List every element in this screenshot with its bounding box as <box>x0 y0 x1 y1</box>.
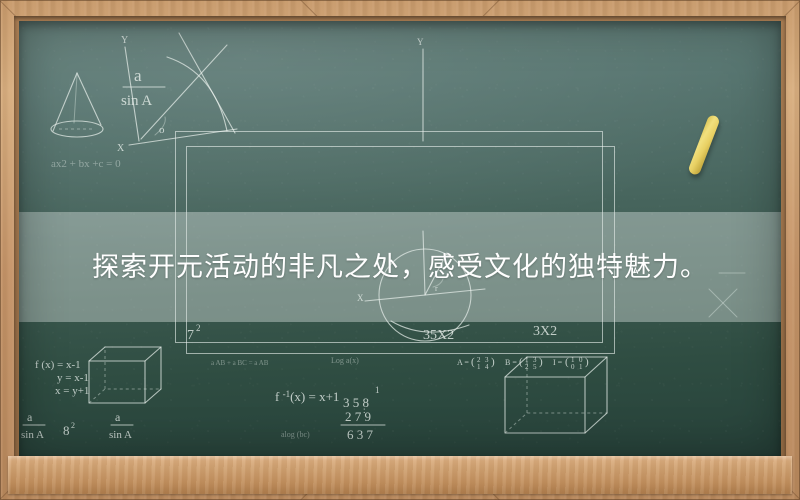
chalk-ledge <box>8 456 792 494</box>
chalkboard-surface: a sin A ax2 + bx +c = 0 Y X o f (x) = <box>19 21 781 457</box>
chalkboard-banner: a sin A ax2 + bx +c = 0 Y X o f (x) = <box>0 0 800 500</box>
caption-text: 探索开元活动的非凡之处，感受文化的独特魅力。 <box>92 254 708 281</box>
caption-band: 探索开元活动的非凡之处，感受文化的独特魅力。 <box>19 212 781 322</box>
